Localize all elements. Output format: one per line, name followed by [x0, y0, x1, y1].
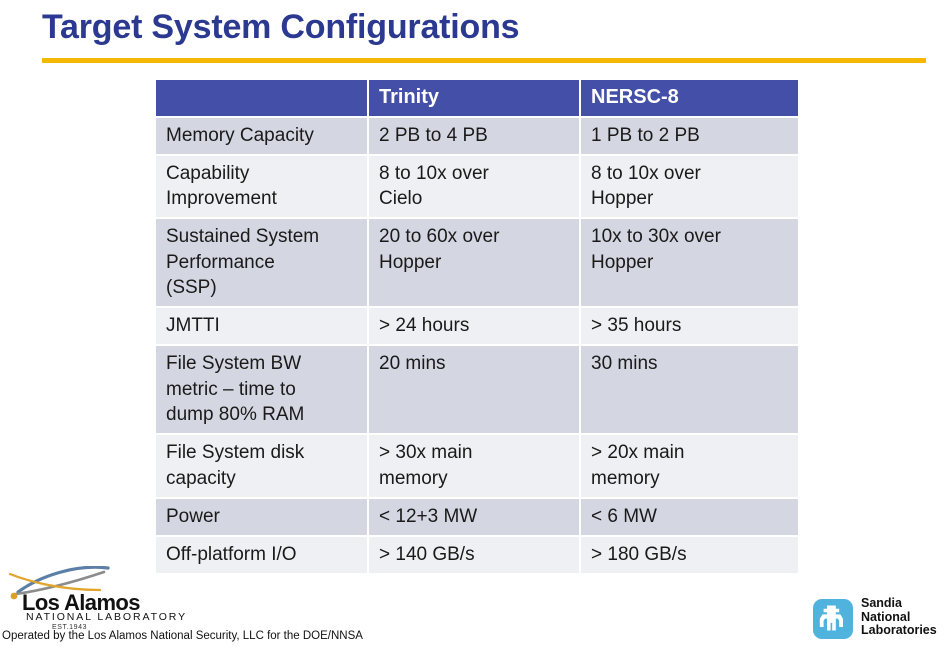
table-row: File System BWmetric – time todump 80% R…	[156, 345, 798, 434]
cell-text-line: memory	[379, 466, 569, 491]
page-title: Target System Configurations	[42, 8, 519, 47]
cell-nersc8: 10x to 30x overHopper	[580, 218, 798, 307]
cell-text-line: 20 to 60x over	[379, 224, 569, 249]
cell-nersc8: 1 PB to 2 PB	[580, 117, 798, 155]
cell-text-line: > 180 GB/s	[591, 542, 788, 567]
cell-text-line: > 140 GB/s	[379, 542, 569, 567]
target-system-configurations-table: Trinity NERSC-8 Memory Capacity2 PB to 4…	[156, 80, 798, 575]
cell-text-line: Off-platform I/O	[166, 542, 357, 567]
table-row: Sustained SystemPerformance(SSP)20 to 60…	[156, 218, 798, 307]
operated-by-statement: Operated by the Los Alamos National Secu…	[2, 630, 363, 642]
cell-metric: CapabilityImprovement	[156, 155, 368, 219]
cell-metric: Memory Capacity	[156, 117, 368, 155]
cell-text-line: Memory Capacity	[166, 123, 357, 148]
cell-text-line: > 24 hours	[379, 313, 569, 338]
sandia-wordmark: Sandia National Laboratories	[861, 597, 937, 638]
cell-text-line: JMTTI	[166, 313, 357, 338]
cell-nersc8: < 6 MW	[580, 498, 798, 536]
cell-trinity: > 140 GB/s	[368, 536, 580, 574]
cell-metric: Sustained SystemPerformance(SSP)	[156, 218, 368, 307]
title-underline-rule	[42, 58, 926, 63]
cell-metric: File System BWmetric – time todump 80% R…	[156, 345, 368, 434]
cell-nersc8: > 35 hours	[580, 307, 798, 345]
cell-text-line: < 12+3 MW	[379, 504, 569, 529]
cell-text-line: Hopper	[379, 250, 569, 275]
table-row: File System diskcapacity> 30x mainmemory…	[156, 434, 798, 498]
cell-text-line: > 35 hours	[591, 313, 788, 338]
cell-nersc8: 30 mins	[580, 345, 798, 434]
table-row: JMTTI> 24 hours> 35 hours	[156, 307, 798, 345]
cell-metric: JMTTI	[156, 307, 368, 345]
cell-text-line: Power	[166, 504, 357, 529]
table-header-row: Trinity NERSC-8	[156, 80, 798, 117]
cell-nersc8: > 20x mainmemory	[580, 434, 798, 498]
cell-trinity: > 30x mainmemory	[368, 434, 580, 498]
sandia-line-3: Laboratories	[861, 624, 937, 638]
cell-text-line: File System disk	[166, 440, 357, 465]
cell-text-line: 30 mins	[591, 351, 788, 376]
cell-text-line: Hopper	[591, 250, 788, 275]
cell-metric: File System diskcapacity	[156, 434, 368, 498]
cell-metric: Off-platform I/O	[156, 536, 368, 574]
cell-text-line: dump 80% RAM	[166, 402, 357, 427]
column-header-nersc8: NERSC-8	[580, 80, 798, 117]
cell-text-line: < 6 MW	[591, 504, 788, 529]
column-header-metric	[156, 80, 368, 117]
cell-text-line: metric – time to	[166, 377, 357, 402]
sandia-thunderbird-glyph	[813, 599, 853, 639]
los-alamos-logo: Los Alamos NATIONAL LABORATORY EST.1943	[4, 566, 139, 618]
table-row: Memory Capacity2 PB to 4 PB1 PB to 2 PB	[156, 117, 798, 155]
cell-text-line: capacity	[166, 466, 357, 491]
cell-metric: Power	[156, 498, 368, 536]
cell-text-line: Improvement	[166, 186, 357, 211]
cell-trinity: 20 mins	[368, 345, 580, 434]
cell-trinity: > 24 hours	[368, 307, 580, 345]
cell-text-line: > 30x main	[379, 440, 569, 465]
cell-text-line: 10x to 30x over	[591, 224, 788, 249]
cell-text-line: File System BW	[166, 351, 357, 376]
cell-text-line: Performance	[166, 250, 357, 275]
cell-text-line: memory	[591, 466, 788, 491]
table-body: Memory Capacity2 PB to 4 PB1 PB to 2 PBC…	[156, 117, 798, 575]
cell-trinity: 20 to 60x overHopper	[368, 218, 580, 307]
sandia-line-1: Sandia	[861, 597, 937, 611]
cell-text-line: 20 mins	[379, 351, 569, 376]
cell-text-line: Sustained System	[166, 224, 357, 249]
cell-text-line: 8 to 10x over	[379, 161, 569, 186]
cell-text-line: > 20x main	[591, 440, 788, 465]
cell-nersc8: > 180 GB/s	[580, 536, 798, 574]
cell-text-line: Capability	[166, 161, 357, 186]
column-header-trinity: Trinity	[368, 80, 580, 117]
cell-text-line: 2 PB to 4 PB	[379, 123, 569, 148]
cell-nersc8: 8 to 10x overHopper	[580, 155, 798, 219]
sandia-line-2: National	[861, 611, 937, 625]
cell-trinity: < 12+3 MW	[368, 498, 580, 536]
cell-text-line: Hopper	[591, 186, 788, 211]
cell-trinity: 2 PB to 4 PB	[368, 117, 580, 155]
cell-text-line: 1 PB to 2 PB	[591, 123, 788, 148]
cell-text-line: Cielo	[379, 186, 569, 211]
table-row: Power< 12+3 MW< 6 MW	[156, 498, 798, 536]
sandia-logo: Sandia National Laboratories	[813, 598, 943, 643]
cell-trinity: 8 to 10x overCielo	[368, 155, 580, 219]
sandia-thunderbird-icon	[813, 599, 853, 639]
table-row: CapabilityImprovement8 to 10x overCielo8…	[156, 155, 798, 219]
lanl-subtitle: NATIONAL LABORATORY	[26, 611, 187, 623]
cell-text-line: (SSP)	[166, 275, 357, 300]
cell-text-line: 8 to 10x over	[591, 161, 788, 186]
table-row: Off-platform I/O> 140 GB/s> 180 GB/s	[156, 536, 798, 574]
